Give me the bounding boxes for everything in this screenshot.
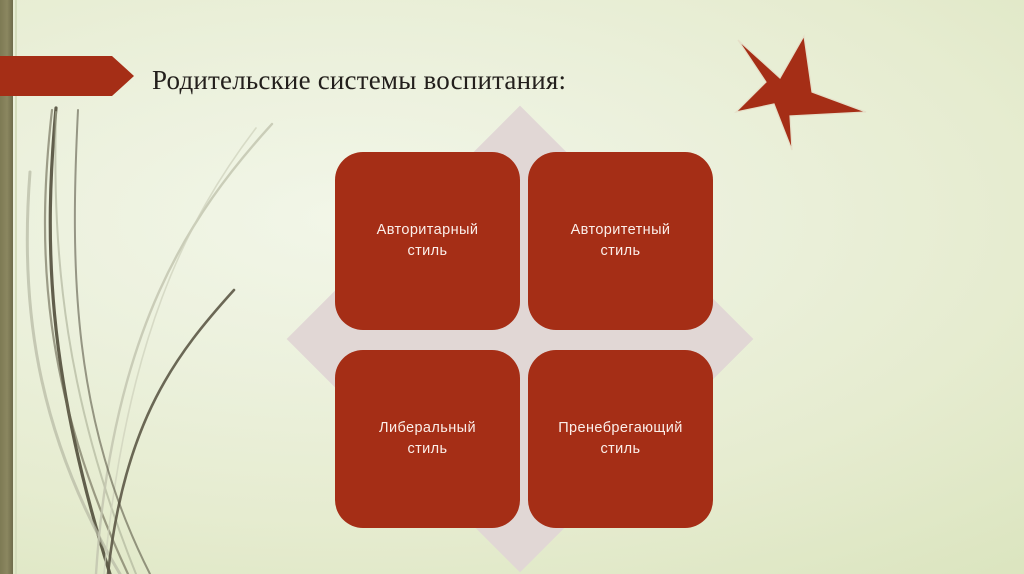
page-title: Родительские системы воспитания:: [152, 64, 712, 96]
style-box-neglectful[interactable]: Пренебрегающий стиль: [528, 350, 713, 528]
style-box-liberal[interactable]: Либеральный стиль: [335, 350, 520, 528]
style-box-liberal-line2: стиль: [407, 441, 447, 457]
presentation-slide: Родительские системы воспитания: Авторит…: [0, 0, 1024, 574]
red-arrow-banner: [0, 56, 134, 96]
style-box-authoritative[interactable]: Авторитетный стиль: [528, 152, 713, 330]
style-box-liberal-line1: Либеральный: [379, 420, 476, 436]
style-box-authoritarian-line1: Авторитарный: [377, 222, 479, 238]
style-box-grid: Авторитарный стиль Авторитетный стиль Ли…: [335, 152, 713, 528]
parenting-styles-diagram: Авторитарный стиль Авторитетный стиль Ли…: [285, 104, 760, 574]
style-box-authoritarian-line2: стиль: [407, 243, 447, 259]
style-box-authoritative-line2: стиль: [600, 243, 640, 259]
style-box-authoritative-line1: Авторитетный: [571, 222, 671, 238]
style-box-authoritarian[interactable]: Авторитарный стиль: [335, 152, 520, 330]
style-box-neglectful-line1: Пренебрегающий: [558, 420, 683, 436]
style-box-neglectful-line2: стиль: [600, 441, 640, 457]
